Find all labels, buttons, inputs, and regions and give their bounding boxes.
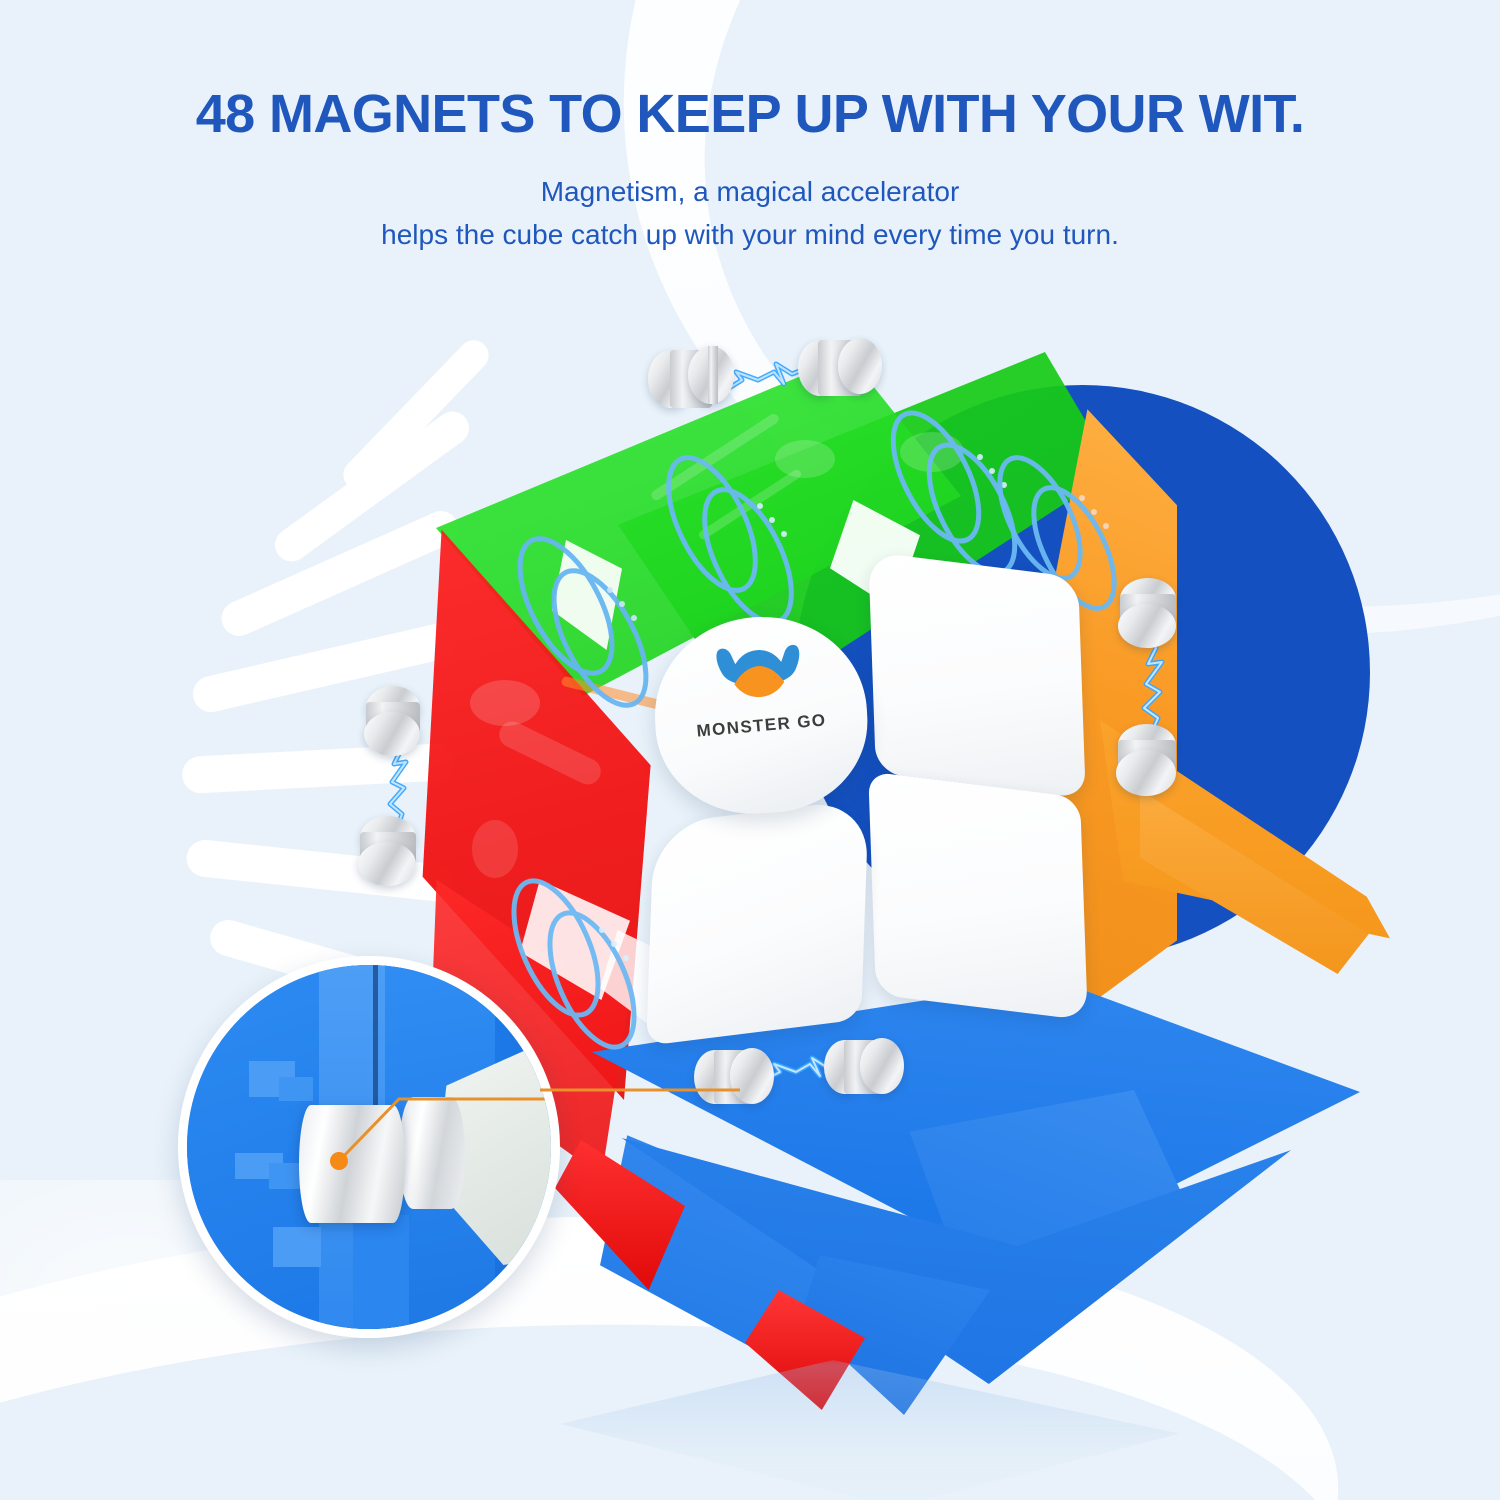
zoom-magnet-seated [399,1097,465,1209]
magnet-pair-left [352,686,462,886]
product-feature-banner: 48 MAGNETS TO KEEP UP WITH YOUR WIT. Mag… [0,0,1500,1500]
cube-tile-white-bottom-right [868,771,1088,1020]
zoom-cube-notch [273,1227,321,1267]
cube-inner-detail [472,820,518,878]
cube-inner-detail [470,680,540,726]
monster-head-icon [710,641,807,708]
cube-tile-white-top-right [868,552,1086,799]
zoom-detail-callout [178,956,560,1338]
cube-inner-detail [775,440,835,478]
cube-tile-white-bottom-left [646,798,869,1046]
brand-logo: MONSTER GO [651,638,868,742]
magnet-pair-top [648,338,898,418]
brand-logo-text: MONSTER GO [655,707,868,745]
zoom-magnet-silver [299,1105,405,1223]
zoom-cube-notch [279,1077,313,1101]
cube-inner-detail [900,432,964,472]
magnet-pair-bottom [694,1038,914,1118]
zoom-cube-notch [353,1215,409,1338]
zoom-cube-notch [269,1163,301,1189]
magnet-pair-right [1106,578,1216,798]
